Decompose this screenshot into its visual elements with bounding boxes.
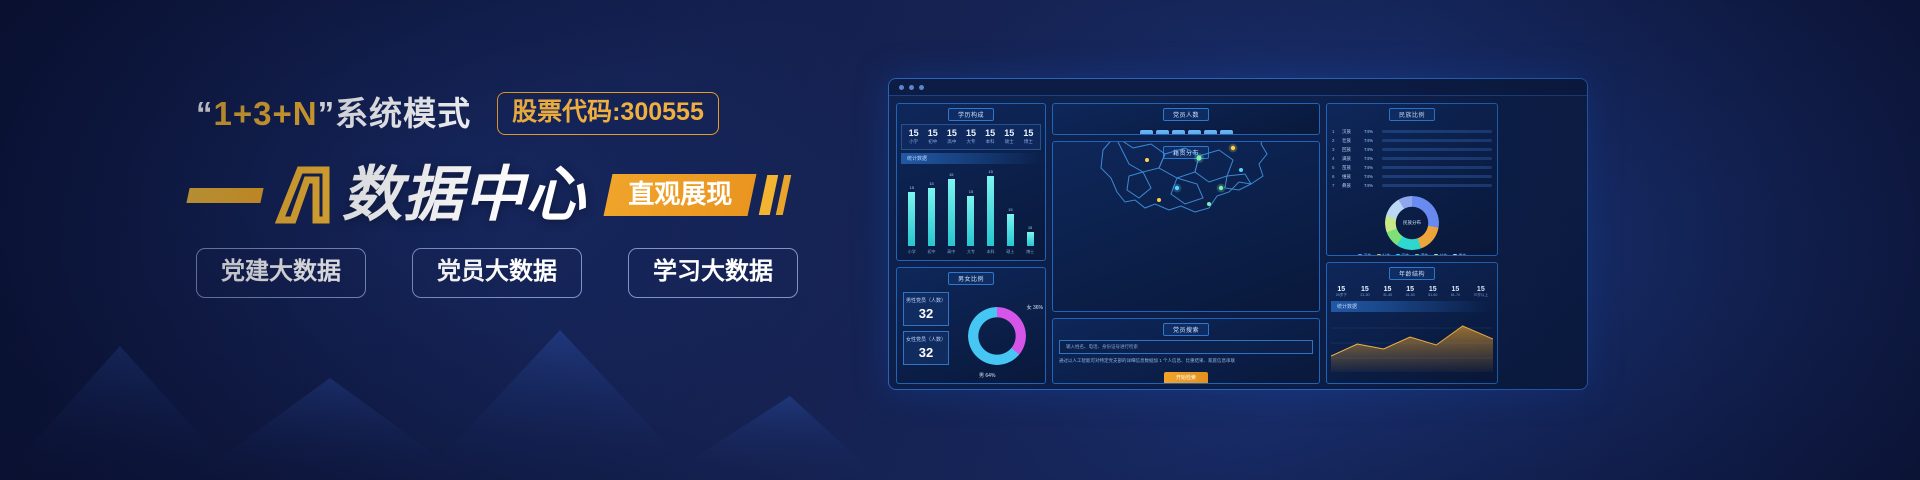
ethnic-name: 回族 xyxy=(1342,147,1360,153)
window-dot-close-icon[interactable] xyxy=(899,85,904,90)
legend-label: 满族 xyxy=(1421,253,1429,256)
gender-donut-chart: 女 36% 男 64% xyxy=(955,292,1039,381)
legend-swatch xyxy=(1415,254,1419,256)
education-stat-value: 15 xyxy=(1023,128,1033,138)
ethnic-bar-track xyxy=(1382,148,1492,151)
accent-tick-2 xyxy=(776,175,792,215)
odometer-digit: 5 xyxy=(1220,130,1233,135)
age-stat-label: 51-60 xyxy=(1428,293,1437,297)
education-stat: 15硕士 xyxy=(1004,128,1014,145)
ethnic-row: 7彝族74% xyxy=(1332,181,1492,190)
legend-swatch xyxy=(1453,254,1457,256)
education-stat-label: 小学 xyxy=(909,139,919,145)
age-stat: 1570岁以上 xyxy=(1473,286,1488,298)
bar-label: 大专 xyxy=(967,249,975,255)
male-count-value: 32 xyxy=(906,306,946,321)
odometer-digit: 5 xyxy=(1156,130,1169,135)
pill-party-member-bigdata[interactable]: 党员大数据 xyxy=(412,248,582,298)
card-ethnic-title: 民族比例 xyxy=(1389,108,1435,121)
bar: 15小学 xyxy=(908,192,915,246)
legend-label: 彝族 xyxy=(1459,253,1467,256)
card-age-title: 年龄结构 xyxy=(1389,267,1435,280)
age-stat: 1521-30 xyxy=(1360,286,1369,298)
card-education-title: 学历构成 xyxy=(948,108,994,121)
education-stat-label: 大专 xyxy=(966,139,976,145)
window-dot-maximize-icon[interactable] xyxy=(919,85,924,90)
ethnic-pct: 74% xyxy=(1364,183,1378,188)
ethnic-name: 苗族 xyxy=(1342,165,1360,171)
age-stat: 1551-60 xyxy=(1428,286,1437,298)
dashboard-column-center: 党员人数 5 5 5 5 5 5 籍贯分布 xyxy=(1052,103,1320,384)
legend-swatch xyxy=(1377,254,1381,256)
bar-value: 15 xyxy=(929,181,933,186)
kicker-quote-open: “ xyxy=(196,95,214,132)
gender-body: 男性党员（人数） 32 女性党员（人数） 32 女 36% 男 64% xyxy=(897,288,1045,384)
ethnic-name: 壮族 xyxy=(1342,138,1360,144)
window-dot-minimize-icon[interactable] xyxy=(909,85,914,90)
bar: 15高中 xyxy=(948,179,955,246)
gender-stat-column: 男性党员（人数） 32 女性党员（人数） 32 xyxy=(903,292,949,381)
title-dash-mark xyxy=(186,188,263,203)
hero-kicker-row: “1+3+N”系统模式 股票代码:300555 xyxy=(196,92,719,135)
age-stat-label: 41-50 xyxy=(1406,293,1415,297)
legend-swatch xyxy=(1396,254,1400,256)
hero-kicker: “1+3+N”系统模式 xyxy=(196,97,471,130)
education-stat-label: 高中 xyxy=(947,139,957,145)
hero-copy: “1+3+N”系统模式 股票代码:300555 数据中心 直观展现 党建大数据 … xyxy=(0,0,860,480)
gender-donut-ring xyxy=(968,307,1026,365)
bar: 15硕士 xyxy=(1007,214,1014,246)
ethnic-row: 1汉族74% xyxy=(1332,127,1492,136)
bar: 15大专 xyxy=(967,196,974,246)
dashboard-grid: 学历构成 15小学 15初中 15高中 15大专 15本科 15硕士 15博士 … xyxy=(896,103,1580,382)
bar-label: 硕士 xyxy=(1006,249,1014,255)
age-stat: 1531-40 xyxy=(1383,286,1392,298)
age-stat-value: 15 xyxy=(1383,286,1392,293)
ethnic-pct: 74% xyxy=(1364,147,1378,152)
odometer-digit: 5 xyxy=(1172,130,1185,135)
card-gender-ratio[interactable]: 男女比例 男性党员（人数） 32 女性党员（人数） 32 xyxy=(896,267,1046,384)
legend-swatch xyxy=(1434,254,1438,256)
education-stat-value: 15 xyxy=(1004,128,1014,138)
ethnic-rank: 3 xyxy=(1332,147,1338,152)
ethnic-pct: 74% xyxy=(1364,129,1378,134)
ethnic-row: 5苗族74% xyxy=(1332,163,1492,172)
card-member-search[interactable]: 党员搜索 输入姓名、电话、身份证号进行检索 通过以人工智能可对特定党支部的详细信… xyxy=(1052,318,1320,384)
page-title: 数据中心 xyxy=(342,165,586,225)
ethnic-bar-track xyxy=(1382,157,1492,160)
age-stat: 1561-70 xyxy=(1451,286,1460,298)
yi-ge-glyph-icon xyxy=(270,162,336,228)
ethnic-bar-track xyxy=(1382,175,1492,178)
start-search-button[interactable]: 开始检索 xyxy=(1164,372,1208,383)
age-stat-label: 70岁以上 xyxy=(1473,293,1488,298)
education-stat-label: 本科 xyxy=(985,139,995,145)
visual-display-badge-label: 直观展现 xyxy=(628,181,732,207)
ethnic-rank: 6 xyxy=(1332,174,1338,179)
ethnic-row: 3回族74% xyxy=(1332,145,1492,154)
odometer-digit: 5 xyxy=(1188,130,1201,135)
ethnic-bar-track xyxy=(1382,184,1492,187)
ethnic-rank: 7 xyxy=(1332,183,1338,188)
age-stat: 1520岁下 xyxy=(1336,286,1347,298)
education-stat: 15本科 xyxy=(985,128,995,145)
age-stat: 1541-50 xyxy=(1406,286,1415,298)
age-stat-value: 15 xyxy=(1360,286,1369,293)
age-area-chart xyxy=(1331,314,1493,372)
ethnic-pct: 74% xyxy=(1364,174,1378,179)
member-search-hint: 通过以人工智能可对特定党支部的详细信息数据加 1 个人信息、比重结果、家庭信息串… xyxy=(1059,357,1313,365)
education-stat-label: 博士 xyxy=(1023,139,1033,145)
dashboard-column-left: 学历构成 15小学 15初中 15高中 15大专 15本科 15硕士 15博士 … xyxy=(896,103,1046,384)
card-ethnic-ratio[interactable]: 民族比例 1汉族74% 2壮族74% 3回族74% 4满族74% 5苗族74% … xyxy=(1326,103,1498,256)
ethnic-rank: 5 xyxy=(1332,165,1338,170)
age-stat-label: 20岁下 xyxy=(1336,293,1347,298)
education-stat-value: 15 xyxy=(947,128,957,138)
card-member-search-title: 党员搜索 xyxy=(1163,323,1209,336)
education-stat-value: 15 xyxy=(966,128,976,138)
ethnic-bar-track xyxy=(1382,166,1492,169)
member-search-input[interactable]: 输入姓名、电话、身份证号进行检索 xyxy=(1059,340,1313,354)
dashboard-mockup: 学历构成 15小学 15初中 15高中 15大专 15本科 15硕士 15博士 … xyxy=(888,78,1588,390)
hero-pill-row: 党建大数据 党员大数据 学习大数据 xyxy=(196,248,798,298)
bar-value: 15 xyxy=(949,172,953,177)
pill-party-building-bigdata[interactable]: 党建大数据 xyxy=(196,248,366,298)
age-stat-label: 31-40 xyxy=(1383,293,1392,297)
education-stat-value: 15 xyxy=(909,128,919,138)
gender-male-label: 男 64% xyxy=(979,372,995,379)
legend-item: 苗族 xyxy=(1434,253,1448,256)
education-stat-value: 15 xyxy=(928,128,938,138)
ethnic-donut-center-label: 民族分布 xyxy=(1403,220,1421,226)
age-stat-strip: 1520岁下 1521-30 1531-40 1541-50 1551-60 1… xyxy=(1327,283,1497,301)
bar-value: 15 xyxy=(969,189,973,194)
card-member-count[interactable]: 党员人数 5 5 5 5 5 5 xyxy=(1052,103,1320,135)
legend-swatch xyxy=(1358,254,1362,256)
stock-code-badge: 股票代码:300555 xyxy=(497,92,719,135)
female-count-label: 女性党员（人数） xyxy=(906,336,946,343)
female-count-value: 32 xyxy=(906,345,946,360)
age-stat-value: 15 xyxy=(1336,286,1347,293)
legend-item: 回族 xyxy=(1396,253,1410,256)
age-stat-label: 21-30 xyxy=(1360,293,1369,297)
ethnic-name: 维族 xyxy=(1342,174,1360,180)
age-stat-value: 15 xyxy=(1473,286,1488,293)
ethnic-bar-track xyxy=(1382,130,1492,133)
ethnic-row: 4满族74% xyxy=(1332,154,1492,163)
ethnic-row: 6维族74% xyxy=(1332,172,1492,181)
education-stat-strip: 15小学 15初中 15高中 15大专 15本科 15硕士 15博士 xyxy=(901,124,1041,150)
bar: 15本科 xyxy=(987,176,994,246)
ethnic-name: 汉族 xyxy=(1342,129,1360,135)
kicker-suffix: ”系统模式 xyxy=(318,95,472,132)
age-stat-value: 15 xyxy=(1451,286,1460,293)
legend-item: 彝族 xyxy=(1453,253,1467,256)
card-gender-title: 男女比例 xyxy=(948,272,994,285)
dashboard-window-titlebar xyxy=(889,79,1587,96)
education-chart-title: 统计数据 xyxy=(901,153,1041,164)
education-stat-label: 硕士 xyxy=(1004,139,1014,145)
education-bar-chart: 15小学 15初中 15高中 15大专 15本科 15硕士 15博士 xyxy=(897,166,1045,258)
card-origin-map[interactable]: 籍贯分布 xyxy=(1052,141,1320,312)
education-stat: 15博士 xyxy=(1023,128,1033,145)
legend-label: 壮族 xyxy=(1383,253,1391,256)
ethnic-bar-track xyxy=(1382,139,1492,142)
bar-label: 博士 xyxy=(1026,249,1034,255)
bar-value: 15 xyxy=(1028,225,1032,230)
age-stat-value: 15 xyxy=(1428,286,1437,293)
male-count-label: 男性党员（人数） xyxy=(906,297,946,304)
card-member-count-title: 党员人数 xyxy=(1163,108,1209,121)
male-count-box: 男性党员（人数） 32 xyxy=(903,292,949,326)
bar-label: 高中 xyxy=(947,249,955,255)
bar-value: 15 xyxy=(910,185,914,190)
education-stat: 15初中 xyxy=(928,128,938,145)
ethnic-name: 满族 xyxy=(1342,156,1360,162)
legend-item: 汉族 xyxy=(1358,253,1372,256)
ethnic-name: 彝族 xyxy=(1342,183,1360,189)
ethnic-rank: 4 xyxy=(1332,156,1338,161)
legend-label: 苗族 xyxy=(1440,253,1448,256)
education-stat: 15高中 xyxy=(947,128,957,145)
bar-label: 初中 xyxy=(928,249,936,255)
female-count-box: 女性党员（人数） 32 xyxy=(903,331,949,365)
hero-title-row: 数据中心 直观展现 xyxy=(188,160,787,230)
ethnic-donut-chart: 民族分布 xyxy=(1327,193,1497,251)
ethnic-rank: 2 xyxy=(1332,138,1338,143)
member-count-odometer: 5 5 5 5 5 5 xyxy=(1053,124,1319,135)
bar: 15初中 xyxy=(928,188,935,246)
kicker-formula: 1+3+N xyxy=(214,95,318,132)
bar-label: 小学 xyxy=(908,249,916,255)
education-stat: 15小学 xyxy=(909,128,919,145)
education-stat-value: 15 xyxy=(985,128,995,138)
bar: 15博士 xyxy=(1027,232,1034,246)
visual-display-badge: 直观展现 xyxy=(604,174,757,216)
card-education[interactable]: 学历构成 15小学 15初中 15高中 15大专 15本科 15硕士 15博士 … xyxy=(896,103,1046,261)
legend-label: 回族 xyxy=(1402,253,1410,256)
legend-item: 满族 xyxy=(1415,253,1429,256)
bar-value: 15 xyxy=(988,169,992,174)
accent-tick-1 xyxy=(759,175,779,215)
card-age-structure[interactable]: 年龄结构 1520岁下 1521-30 1531-40 1541-50 1551… xyxy=(1326,262,1498,384)
ethnic-rank: 1 xyxy=(1332,129,1338,134)
ethnic-legend: 汉族 壮族 回族 满族 苗族 彝族 xyxy=(1327,251,1497,256)
pill-study-bigdata[interactable]: 学习大数据 xyxy=(628,248,798,298)
odometer-digit: 5 xyxy=(1204,130,1217,135)
age-stat-label: 61-70 xyxy=(1451,293,1460,297)
odometer-digit: 5 xyxy=(1140,130,1153,135)
bar-label: 本科 xyxy=(987,249,995,255)
ethnic-pct: 74% xyxy=(1364,138,1378,143)
ethnic-pct: 74% xyxy=(1364,165,1378,170)
ethnic-pct: 74% xyxy=(1364,156,1378,161)
gender-female-label: 女 36% xyxy=(1027,304,1043,311)
ethnic-rank-list: 1汉族74% 2壮族74% 3回族74% 4满族74% 5苗族74% 6维族74… xyxy=(1327,124,1497,193)
dashboard-column-right: 民族比例 1汉族74% 2壮族74% 3回族74% 4满族74% 5苗族74% … xyxy=(1326,103,1498,384)
age-chart-title: 统计数据 xyxy=(1331,301,1493,312)
age-stat-value: 15 xyxy=(1406,286,1415,293)
legend-item: 壮族 xyxy=(1377,253,1391,256)
bar-value: 15 xyxy=(1008,207,1012,212)
education-stat-label: 初中 xyxy=(928,139,938,145)
education-stat: 15大专 xyxy=(966,128,976,145)
legend-label: 汉族 xyxy=(1364,253,1372,256)
ethnic-row: 2壮族74% xyxy=(1332,136,1492,145)
